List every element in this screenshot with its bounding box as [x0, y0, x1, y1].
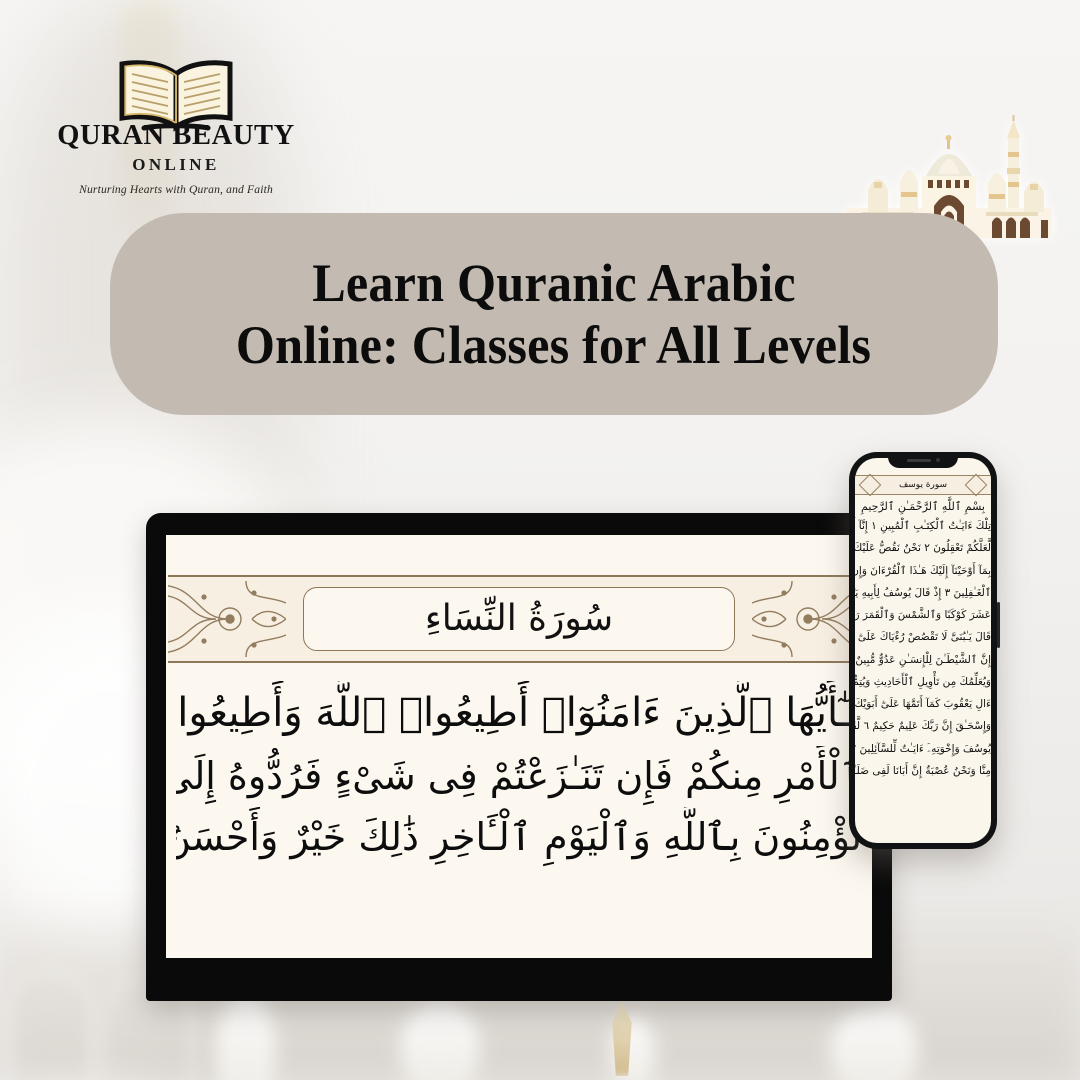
ayah-line: إِنَّ ٱلشَّيْطَـٰنَ لِلْإِنسَـٰنِ عَدُوٌ…	[855, 649, 991, 671]
ayah-line: تُؤْمِنُونَ بِٱللَّهِ وَٱلْيَوْمِ ٱلْـَٔ…	[176, 807, 862, 869]
poster-canvas: QURAN BEAUTY ONLINE Nurturing Hearts wit…	[0, 0, 1080, 1080]
mushaf-page-laptop: سُورَةُ النِّسَاءِ	[166, 535, 872, 958]
ornament-star-icon	[965, 474, 988, 497]
headline-line-2: Online: Classes for All Levels	[236, 315, 871, 375]
phone-camera-icon	[936, 458, 940, 462]
ayah-line: يُوسُفَ وَإِخْوَتِهِۦٓ ءَايَـٰتٌ لِّلسَّ…	[855, 738, 991, 760]
page-title: Learn Quranic Arabic Online: Classes for…	[110, 213, 998, 415]
logo-subtitle: ONLINE	[48, 155, 304, 175]
ayah-line: تِلْكَ ءَايَـٰتُ ٱلْكِتَـٰبِ ٱلْمُبِينِ …	[855, 515, 991, 537]
ayah-line: قَالَ يَـٰبُنَىَّ لَا تَقْصُصْ رُءْيَاكَ…	[855, 626, 991, 648]
brand-logo: QURAN BEAUTY ONLINE Nurturing Hearts wit…	[48, 22, 304, 196]
headline-line-1: Learn Quranic Arabic	[312, 253, 796, 313]
phone-speaker-icon	[907, 459, 931, 462]
ornament-star-icon	[859, 474, 882, 497]
open-book-icon	[110, 58, 242, 132]
phone-surah-header: سورة يوسف	[855, 475, 991, 495]
logo-tagline: Nurturing Hearts with Quran, and Faith	[48, 183, 304, 196]
ayah-line: بِمَآ أَوْحَيْنَآ إِلَيْكَ هَـٰذَا ٱلْقُ…	[855, 560, 991, 582]
arabesque-ornament-icon	[168, 577, 286, 661]
bismillah-line: بِسْمِ ٱللَّهِ ٱلرَّحْمَـٰنِ ٱلرَّحِيمِ	[855, 500, 991, 513]
laptop-screen[interactable]: سُورَةُ النِّسَاءِ	[166, 535, 872, 958]
phone-side-button[interactable]	[997, 602, 1000, 648]
ayah-line: لَّعَلَّكُمْ تَعْقِلُونَ ٢ نَحْنُ نَقُصُ…	[855, 537, 991, 559]
laptop-mockup: سُورَةُ النِّسَاءِ	[146, 513, 892, 1001]
ayah-text-block: يَـٰٓأَيُّهَا ٱلَّذِينَ ءَامَنُوٓا۟ أَطِ…	[166, 663, 872, 869]
ayah-line: ءَالِ يَعْقُوبَ كَمَآ أَتَمَّهَا عَلَىٰٓ…	[855, 693, 991, 715]
phone-notch	[888, 452, 958, 468]
background-arch	[4, 968, 96, 1080]
smartphone-mockup: سورة يوسف بِسْمِ ٱللَّهِ ٱلرَّحْمَـٰنِ ٱ…	[849, 452, 997, 849]
surah-title-phone: سورة يوسف	[899, 480, 947, 490]
surah-title-plate: سُورَةُ النِّسَاءِ	[303, 587, 735, 651]
ayah-line: ٱلْأَمْرِ مِنكُمْ فَإِن تَنَـٰزَعْتُمْ ف…	[176, 746, 862, 808]
phone-screen[interactable]: سورة يوسف بِسْمِ ٱللَّهِ ٱلرَّحْمَـٰنِ ٱ…	[855, 458, 991, 843]
ayah-line: يَـٰٓأَيُّهَا ٱلَّذِينَ ءَامَنُوٓا۟ أَطِ…	[176, 681, 862, 746]
ayah-line: ٱلْغَـٰفِلِينَ ٣ إِذْ قَالَ يُوسُفُ لِأَ…	[855, 582, 991, 604]
surah-header-band: سُورَةُ النِّسَاءِ	[168, 575, 870, 663]
surah-title-laptop: سُورَةُ النِّسَاءِ	[425, 601, 613, 637]
ayah-line: وَإِسْحَـٰقَ إِنَّ رَبَّكَ عَلِيمٌ حَكِي…	[855, 715, 991, 737]
logo-mark	[48, 22, 304, 126]
ayah-line: وَيُعَلِّمُكَ مِن تَأْوِيلِ ٱلْأَحَادِيث…	[855, 671, 991, 693]
ayah-line: عَشَرَ كَوْكَبًا وَٱلشَّمْسَ وَٱلْقَمَرَ…	[855, 604, 991, 626]
phone-ayah-block: تِلْكَ ءَايَـٰتُ ٱلْكِتَـٰبِ ٱلْمُبِينِ …	[855, 515, 991, 782]
ayah-line: مِنَّا وَنَحْنُ عُصْبَةٌ إِنَّ أَبَانَا …	[855, 760, 991, 782]
